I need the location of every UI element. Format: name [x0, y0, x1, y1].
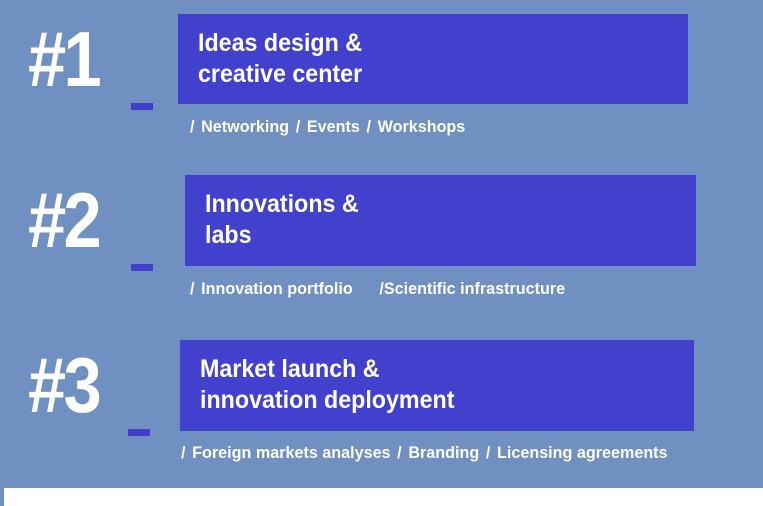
stage-number-dash — [131, 264, 153, 271]
stage-number-dash — [131, 103, 153, 110]
stage-title-card: Ideas design & creative center — [178, 14, 688, 104]
stage-title: Ideas design & creative center — [198, 28, 362, 90]
stage-number: #2 — [28, 181, 99, 259]
stage-title: Innovations & labs — [205, 189, 359, 251]
stage-number: #3 — [28, 346, 99, 424]
tag-slash-icon: / — [181, 443, 185, 462]
bottom-white-strip — [0, 488, 763, 506]
tag-slash-icon: / — [190, 279, 194, 298]
stage-tag: Networking — [201, 117, 289, 136]
tag-slash-icon: / — [190, 117, 194, 136]
tag-slash-icon: / — [366, 117, 370, 136]
stage-tags: /Foreign markets analyses/Branding/Licen… — [181, 443, 668, 463]
tag-slash-icon: / — [397, 443, 401, 462]
stage-tag: Events — [307, 117, 360, 136]
stage-title-card: Innovations & labs — [185, 175, 696, 266]
stage-number-dash — [128, 429, 150, 436]
bottom-strip-left-edge — [0, 488, 4, 506]
stage-title-card: Market launch & innovation deployment — [180, 340, 694, 431]
infographic-slide: #1 Ideas design & creative center /Netwo… — [0, 0, 763, 506]
stage-title: Market launch & innovation deployment — [200, 354, 454, 416]
stage-tags: /Networking/Events/Workshops — [190, 117, 465, 137]
stage-tag: Branding — [408, 443, 479, 462]
stage-tag: Foreign markets analyses — [192, 443, 390, 462]
tag-slash-icon: / — [486, 443, 490, 462]
stage-tags: /Innovation portfolio/Scientific infrast… — [190, 279, 565, 299]
stage-tag: Scientific infrastructure — [384, 279, 565, 298]
stage-number: #1 — [28, 20, 99, 98]
stage-tag: Workshops — [378, 117, 466, 136]
stage-tag: Licensing agreements — [497, 443, 668, 462]
tag-slash-icon: / — [296, 117, 300, 136]
stage-tag: Innovation portfolio — [201, 279, 353, 298]
